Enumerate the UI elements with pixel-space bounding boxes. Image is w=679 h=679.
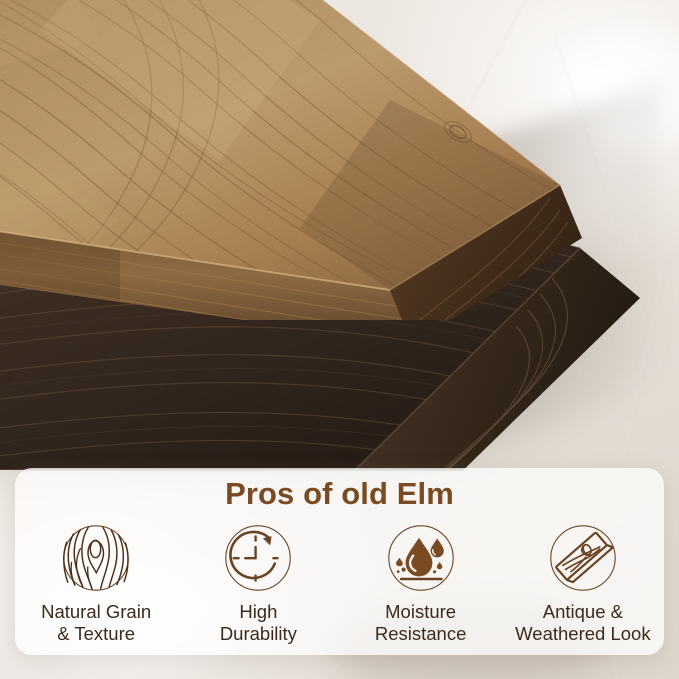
card-title: Pros of old Elm — [15, 476, 664, 512]
feature-item-moisture-resistance[interactable]: Moisture Resistance — [340, 524, 502, 644]
wood-grain-icon — [62, 524, 130, 592]
feature-label: Antique & Weathered Look — [515, 601, 650, 644]
feature-label: High Durability — [220, 601, 297, 644]
feature-label: Moisture Resistance — [375, 601, 467, 644]
pros-feature-card: Pros of old Elm — [15, 468, 664, 655]
product-feature-image: Pros of old Elm — [0, 0, 679, 679]
feature-item-natural-grain[interactable]: Natural Grain & Texture — [15, 524, 177, 644]
feature-label: Natural Grain & Texture — [41, 601, 151, 644]
light-elm-board — [0, 0, 620, 320]
feature-item-high-durability[interactable]: High Durability — [177, 524, 339, 644]
water-droplet-icon — [387, 524, 455, 592]
wood-plank-icon — [549, 524, 617, 592]
feature-item-antique-weathered[interactable]: Antique & Weathered Look — [502, 524, 664, 644]
feature-list: Natural Grain & Texture — [15, 524, 664, 644]
clock-refresh-icon — [224, 524, 292, 592]
